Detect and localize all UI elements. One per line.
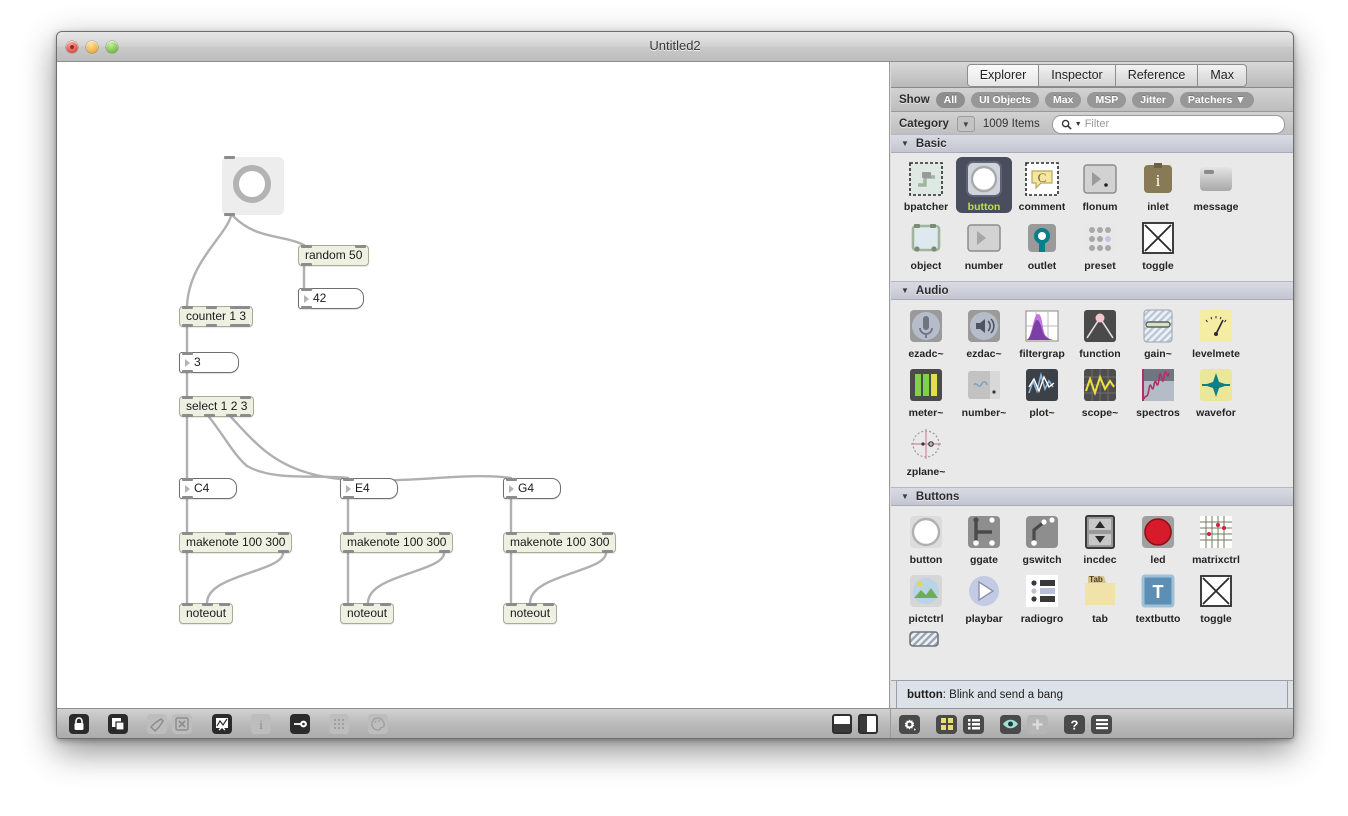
inlet-nub[interactable] (343, 478, 354, 481)
playbar-icon (964, 571, 1004, 611)
palette-item-zplane[interactable]: zplane~ (898, 424, 954, 478)
outlet-nub[interactable] (182, 496, 193, 499)
palette-item-led[interactable]: led (1130, 512, 1186, 566)
menu-icon[interactable] (1091, 715, 1112, 734)
number-box-42[interactable]: 42 (298, 288, 364, 309)
palette-item-label: meter~ (909, 407, 944, 419)
palette-item-label: scope~ (1082, 407, 1118, 419)
side-pane-icon[interactable] (858, 714, 878, 734)
group-name: Audio (916, 285, 949, 297)
palette-item-preset[interactable]: preset (1072, 218, 1128, 272)
group-name: Buttons (916, 491, 959, 503)
inlet-nub[interactable] (219, 603, 230, 606)
palette-item-label: toggle (1200, 613, 1232, 625)
inlet-nub[interactable] (355, 245, 366, 248)
bpatcher-icon (906, 159, 946, 199)
gain-partial-icon (906, 630, 946, 670)
object-random[interactable]: random 50 (298, 245, 369, 266)
desktop: Untitled2 (0, 0, 1348, 816)
message-triangle-icon (509, 485, 514, 493)
inlet-nub[interactable] (182, 306, 193, 309)
palette-item-label: inlet (1147, 201, 1169, 213)
bottom-pane-icon[interactable] (832, 714, 852, 734)
tab-icon: Tab (1080, 571, 1120, 611)
sidebar-tabbar: Explorer Inspector Reference Max (891, 62, 1293, 88)
ezadc-icon (906, 306, 946, 346)
palette-item-label: flonum (1083, 201, 1118, 213)
palette-item-gain[interactable]: gain~ (1130, 306, 1186, 360)
outlet-nub[interactable] (240, 414, 251, 417)
palette-item-inlet[interactable]: i inlet (1130, 159, 1186, 213)
palette-item-button-2[interactable]: button (898, 512, 954, 566)
palette-item-label: ezdac~ (966, 348, 1001, 360)
inlet-nub[interactable] (343, 603, 354, 606)
palette-item-label: comment (1019, 201, 1066, 213)
gswitch-icon (1022, 512, 1062, 552)
palette-item-waveform[interactable]: wavefor (1188, 365, 1244, 419)
outlet-nub[interactable] (439, 550, 450, 553)
palette-item-meter[interactable]: meter~ (898, 365, 954, 419)
paint-icon[interactable] (147, 714, 167, 734)
number-triangle-icon (185, 359, 190, 367)
message-box-c4[interactable]: C4 (179, 478, 237, 499)
outlet-nub[interactable] (506, 496, 517, 499)
show-filter-row: Show All UI Objects Max MSP Jitter Patch… (891, 88, 1293, 112)
inlet-nub[interactable] (543, 603, 554, 606)
palette-item-label: zplane~ (907, 466, 946, 478)
palette-item-flonum[interactable]: flonum (1072, 159, 1128, 213)
svg-text:T: T (1153, 582, 1164, 602)
palette-item-toggle-2[interactable]: toggle (1188, 571, 1244, 625)
palette-item-label: incdec (1083, 554, 1116, 566)
object-text: makenote 100 300 (510, 535, 609, 549)
palette-item-label: filtergrap (1019, 348, 1065, 360)
palette-item-comment[interactable]: C comment (1014, 159, 1070, 213)
palette-item-label: preset (1084, 260, 1116, 272)
palette-item-ezdac[interactable]: ezdac~ (956, 306, 1012, 360)
object-noteout-1[interactable]: noteout (179, 603, 233, 624)
outlet-nub[interactable] (602, 550, 613, 553)
levelmeter-icon (1196, 306, 1236, 346)
inlet-icon: i (1138, 159, 1178, 199)
info-icon[interactable]: i (251, 714, 271, 734)
meter-icon (906, 365, 946, 405)
patcher-pane: random 50 42 counter 1 3 (57, 62, 891, 738)
outlet-nub[interactable] (301, 263, 312, 266)
palette-item-object[interactable]: object (898, 218, 954, 272)
description-pane: button: Blink and send a bang button pro… (891, 680, 1293, 708)
filter-ui-objects[interactable]: UI Objects (971, 92, 1039, 108)
group-name: Basic (916, 138, 947, 150)
search-placeholder: Filter (1085, 118, 1109, 130)
filtergraph-icon (1022, 306, 1062, 346)
chevron-down-icon: ▼ (901, 286, 909, 295)
show-label: Show (899, 94, 930, 106)
inlet-nub[interactable] (301, 288, 312, 291)
patcher-toolbar: i (57, 708, 891, 739)
object-text: makenote 100 300 (186, 535, 285, 549)
clear-icon[interactable] (172, 714, 192, 734)
number-triangle-icon (304, 295, 309, 303)
description-summary: : Blink and send a bang (943, 689, 1063, 701)
palette-item-button[interactable]: button (956, 157, 1012, 213)
outlet-nub[interactable] (224, 213, 235, 216)
object-browser[interactable]: ▼ Basic bpatcher button (891, 134, 1293, 681)
category-label: Category (899, 118, 949, 130)
outlet-nub[interactable] (239, 324, 250, 327)
palette-icon[interactable] (368, 714, 388, 734)
ezdac-icon (964, 306, 1004, 346)
spectroscope-icon (1138, 365, 1178, 405)
outlet-nub[interactable] (506, 550, 517, 553)
tab-max[interactable]: Max (1198, 64, 1247, 87)
message-triangle-icon (346, 485, 351, 493)
palette-item-label: levelmete (1192, 348, 1240, 360)
palette-item-label: message (1194, 201, 1239, 213)
button-icon (964, 159, 1004, 199)
palette-item-ezadc[interactable]: ezadc~ (898, 306, 954, 360)
object-text: noteout (510, 606, 550, 620)
search-dropdown-icon[interactable]: ▼ (1075, 121, 1082, 128)
palette-item-label: textbutto (1136, 613, 1181, 625)
ggate-icon (964, 512, 1004, 552)
inlet-nub[interactable] (343, 532, 354, 535)
gear-icon[interactable] (899, 715, 920, 734)
object-text: noteout (186, 606, 226, 620)
group-header-audio[interactable]: ▼ Audio (891, 281, 1293, 300)
gain-icon (1138, 306, 1178, 346)
bang-object[interactable] (222, 157, 284, 215)
inlet-nub[interactable] (240, 396, 251, 399)
message-text: G4 (518, 481, 534, 495)
led-icon (1138, 512, 1178, 552)
inlet-nub[interactable] (182, 532, 193, 535)
palette-item-bpatcher[interactable]: bpatcher (898, 159, 954, 213)
inlet-nub[interactable] (224, 156, 235, 159)
palette-item-ggate[interactable]: ggate (956, 512, 1012, 566)
list-view-icon[interactable] (963, 715, 984, 734)
outlet-icon (1022, 218, 1062, 258)
comment-icon: C (1022, 159, 1062, 199)
palette-item-label: number (965, 260, 1004, 272)
palette-item-number[interactable]: number (956, 218, 1012, 272)
palette-item-scope[interactable]: scope~ (1072, 365, 1128, 419)
pictctrl-icon (906, 571, 946, 611)
message-text: E4 (355, 481, 370, 495)
palette-item-label: object (911, 260, 942, 272)
button-icon (906, 512, 946, 552)
preset-icon (1080, 218, 1120, 258)
inlet-nub[interactable] (206, 306, 217, 309)
object-text: makenote 100 300 (347, 535, 446, 549)
item-count: 1009 Items (983, 118, 1040, 130)
svg-text:i: i (259, 717, 263, 732)
palette-item-label: plot~ (1029, 407, 1054, 419)
palette-item-label: outlet (1028, 260, 1057, 272)
patcher-canvas[interactable]: random 50 42 counter 1 3 (57, 62, 890, 708)
tab-inspector[interactable]: Inspector (1039, 64, 1115, 87)
palette-item-spectroscope[interactable]: spectros (1130, 365, 1186, 419)
outlet-nub[interactable] (182, 550, 193, 553)
inlet-nub[interactable] (602, 532, 613, 535)
palette-item-label: matrixctrl (1192, 554, 1240, 566)
window-titlebar[interactable]: Untitled2 (57, 32, 1293, 62)
palette-item-label: ggate (970, 554, 998, 566)
outlet-nub[interactable] (182, 414, 193, 417)
inlet-nub[interactable] (549, 532, 560, 535)
bang-circle-icon (233, 165, 271, 203)
filter-patchers[interactable]: Patchers ▼ (1180, 92, 1254, 108)
sidebar-tabs: Explorer Inspector Reference Max (967, 64, 1247, 87)
plot-icon (1022, 365, 1062, 405)
palette-item-label: led (1150, 554, 1165, 566)
palette-item-label: ezadc~ (908, 348, 943, 360)
flonum-icon (1080, 159, 1120, 199)
filter-jitter[interactable]: Jitter (1132, 92, 1174, 108)
palette-item-label: function (1079, 348, 1120, 360)
palette-item-outlet[interactable]: outlet (1014, 218, 1070, 272)
palette-item-label: number~ (962, 407, 1007, 419)
message-box-e4[interactable]: E4 (340, 478, 398, 499)
message-text: C4 (194, 481, 209, 495)
sidebar-toolbar: ? (891, 708, 1294, 739)
outlet-nub[interactable] (182, 370, 193, 373)
inlet-nub[interactable] (182, 352, 193, 355)
patcher-window: Untitled2 (56, 31, 1294, 739)
scope-icon (1080, 365, 1120, 405)
object-noteout-3[interactable]: noteout (503, 603, 557, 624)
number-box-3[interactable]: 3 (179, 352, 239, 373)
palette-item-label: bpatcher (904, 201, 948, 213)
group-grid-audio: ezadc~ ezdac~ filtergrap (891, 300, 1293, 487)
grid-icon[interactable] (329, 714, 349, 734)
palette-item-playbar[interactable]: playbar (956, 571, 1012, 625)
chevron-down-icon: ▼ (901, 139, 909, 148)
grid-view-icon[interactable] (936, 715, 957, 734)
object-makenote-3[interactable]: makenote 100 300 (503, 532, 616, 553)
message-icon (1196, 159, 1236, 199)
palette-item-label: wavefor (1196, 407, 1236, 419)
object-select[interactable]: select 1 2 3 (179, 396, 254, 417)
palette-item-pictctrl[interactable]: pictctrl (898, 571, 954, 625)
svg-text:Tab: Tab (1089, 575, 1103, 584)
inlet-nub[interactable] (526, 603, 537, 606)
palette-item-function[interactable]: function (1072, 306, 1128, 360)
outlet-nub[interactable] (301, 306, 312, 309)
palette-item-label: button (968, 201, 1001, 213)
palette-item-filtergraph[interactable]: filtergrap (1014, 306, 1070, 360)
inlet-nub[interactable] (239, 306, 250, 309)
signal-probe-icon[interactable] (212, 714, 232, 734)
palette-item-tab[interactable]: Tab tab (1072, 571, 1128, 625)
inlet-nub[interactable] (182, 478, 193, 481)
message-triangle-icon (185, 485, 190, 493)
eye-icon[interactable] (1000, 715, 1021, 734)
inlet-nub[interactable] (439, 532, 450, 535)
inlet-nub[interactable] (182, 603, 193, 606)
palette-item-label: button (910, 554, 943, 566)
outlet-nub[interactable] (343, 496, 354, 499)
tab-explorer[interactable]: Explorer (967, 64, 1040, 87)
inlet-nub[interactable] (506, 532, 517, 535)
group-header-basic[interactable]: ▼ Basic (891, 134, 1293, 153)
palette-item-partial[interactable] (898, 630, 954, 670)
inlet-nub[interactable] (506, 478, 517, 481)
palette-item-label: gain~ (1144, 348, 1172, 360)
palette-item-levelmeter[interactable]: levelmete (1188, 306, 1244, 360)
chevron-down-icon: ▼ (901, 492, 909, 501)
filter-msp[interactable]: MSP (1087, 92, 1126, 108)
object-text: random 50 (305, 248, 362, 262)
palette-item-gswitch[interactable]: gswitch (1014, 512, 1070, 566)
view-buttons-group (832, 714, 878, 734)
toggle-icon (1138, 218, 1178, 258)
window-title: Untitled2 (57, 38, 1293, 53)
lock-icon[interactable] (69, 714, 89, 734)
palette-item-message[interactable]: message (1188, 159, 1244, 213)
palette-item-label: radiogro (1021, 613, 1064, 625)
object-text: select 1 2 3 (186, 399, 247, 413)
outlet-nub[interactable] (182, 324, 193, 327)
palette-item-number-tilde[interactable]: number~ (956, 365, 1012, 419)
inlet-nub[interactable] (363, 603, 374, 606)
chevron-down-icon[interactable]: ▼ (957, 116, 975, 132)
object-text: noteout (347, 606, 387, 620)
number-icon (964, 218, 1004, 258)
inlet-nub[interactable] (506, 603, 517, 606)
outlet-nub[interactable] (204, 414, 215, 417)
number-tilde-icon (964, 365, 1004, 405)
object-noteout-2[interactable]: noteout (340, 603, 394, 624)
inspector-icon[interactable] (290, 714, 310, 734)
palette-item-textbutton[interactable]: T textbutto (1130, 571, 1186, 625)
object-counter[interactable]: counter 1 3 (179, 306, 253, 327)
plus-icon[interactable] (1027, 715, 1048, 734)
sidebar: Explorer Inspector Reference Max Show Al… (891, 62, 1293, 738)
palette-item-incdec[interactable]: incdec (1072, 512, 1128, 566)
palette-item-radiogroup[interactable]: radiogro (1014, 571, 1070, 625)
search-icon (1061, 119, 1072, 130)
number-value: 3 (194, 355, 201, 369)
palette-item-label: spectros (1136, 407, 1180, 419)
svg-text:C: C (1038, 170, 1047, 185)
presentation-icon[interactable] (108, 714, 128, 734)
waveform-icon (1196, 365, 1236, 405)
object-text: counter 1 3 (186, 309, 246, 323)
svg-text:?: ? (1071, 717, 1079, 732)
inlet-nub[interactable] (202, 603, 213, 606)
svg-text:i: i (1156, 171, 1161, 190)
inlet-nub[interactable] (301, 245, 312, 248)
outlet-nub[interactable] (206, 324, 217, 327)
palette-item-label: toggle (1142, 260, 1174, 272)
incdec-icon (1080, 512, 1120, 552)
inlet-nub[interactable] (225, 532, 236, 535)
toggle-icon (1196, 571, 1236, 611)
textbutton-icon: T (1138, 571, 1178, 611)
filter-max[interactable]: Max (1045, 92, 1081, 108)
search-input[interactable]: ▼ Filter (1052, 115, 1285, 134)
radiogroup-icon (1022, 571, 1062, 611)
matrixctrl-icon (1196, 512, 1236, 552)
palette-item-toggle[interactable]: toggle (1130, 218, 1186, 272)
palette-item-label: playbar (965, 613, 1002, 625)
group-grid-buttons: button ggate gswitch (891, 506, 1293, 679)
palette-item-matrixctrl[interactable]: matrixctrl (1188, 512, 1244, 566)
inlet-nub[interactable] (386, 532, 397, 535)
zplane-icon (906, 424, 946, 464)
tab-reference[interactable]: Reference (1116, 64, 1199, 87)
palette-item-label: tab (1092, 613, 1108, 625)
inlet-nub[interactable] (380, 603, 391, 606)
filter-all[interactable]: All (936, 92, 965, 108)
function-icon (1080, 306, 1120, 346)
help-icon[interactable]: ? (1064, 715, 1085, 734)
palette-item-plot[interactable]: plot~ (1014, 365, 1070, 419)
group-header-buttons[interactable]: ▼ Buttons (891, 487, 1293, 506)
object-icon (906, 218, 946, 258)
palette-item-label: pictctrl (908, 613, 943, 625)
number-value: 42 (313, 291, 326, 305)
inlet-nub[interactable] (278, 532, 289, 535)
outlet-nub[interactable] (226, 414, 237, 417)
object-makenote-1[interactable]: makenote 100 300 (179, 532, 292, 553)
description-title: button (907, 689, 943, 701)
palette-item-label: gswitch (1022, 554, 1061, 566)
inlet-nub[interactable] (182, 396, 193, 399)
outlet-nub[interactable] (278, 550, 289, 553)
message-box-g4[interactable]: G4 (503, 478, 561, 499)
object-makenote-2[interactable]: makenote 100 300 (340, 532, 453, 553)
outlet-nub[interactable] (343, 550, 354, 553)
group-grid-basic: bpatcher button C comment (891, 153, 1293, 281)
